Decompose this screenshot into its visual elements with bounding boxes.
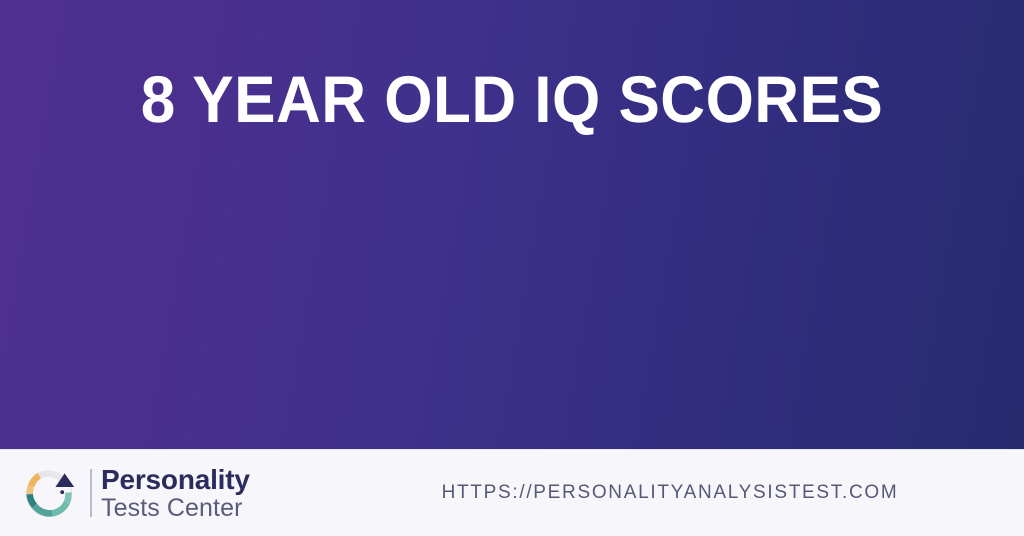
brand-lockup[interactable]: Personality Tests Center — [22, 458, 250, 528]
footer-bar: Personality Tests Center HTTPS://PERSONA… — [0, 449, 1024, 536]
brand-name-primary: Personality — [101, 465, 250, 494]
brand-wordmark: Personality Tests Center — [101, 465, 250, 522]
brand-name-secondary: Tests Center — [101, 494, 250, 522]
page-title: 8 YEAR OLD IQ SCORES — [31, 62, 994, 136]
hero-gradient-background: 8 YEAR OLD IQ SCORES — [0, 0, 1024, 449]
ring-logo-icon — [22, 465, 78, 521]
site-url-text[interactable]: HTTPS://PERSONALITYANALYSISTEST.COM — [380, 449, 960, 536]
brand-divider — [90, 469, 92, 517]
hero-left-edge — [0, 0, 3, 449]
banner-image: 8 YEAR OLD IQ SCORES — [0, 0, 1024, 536]
